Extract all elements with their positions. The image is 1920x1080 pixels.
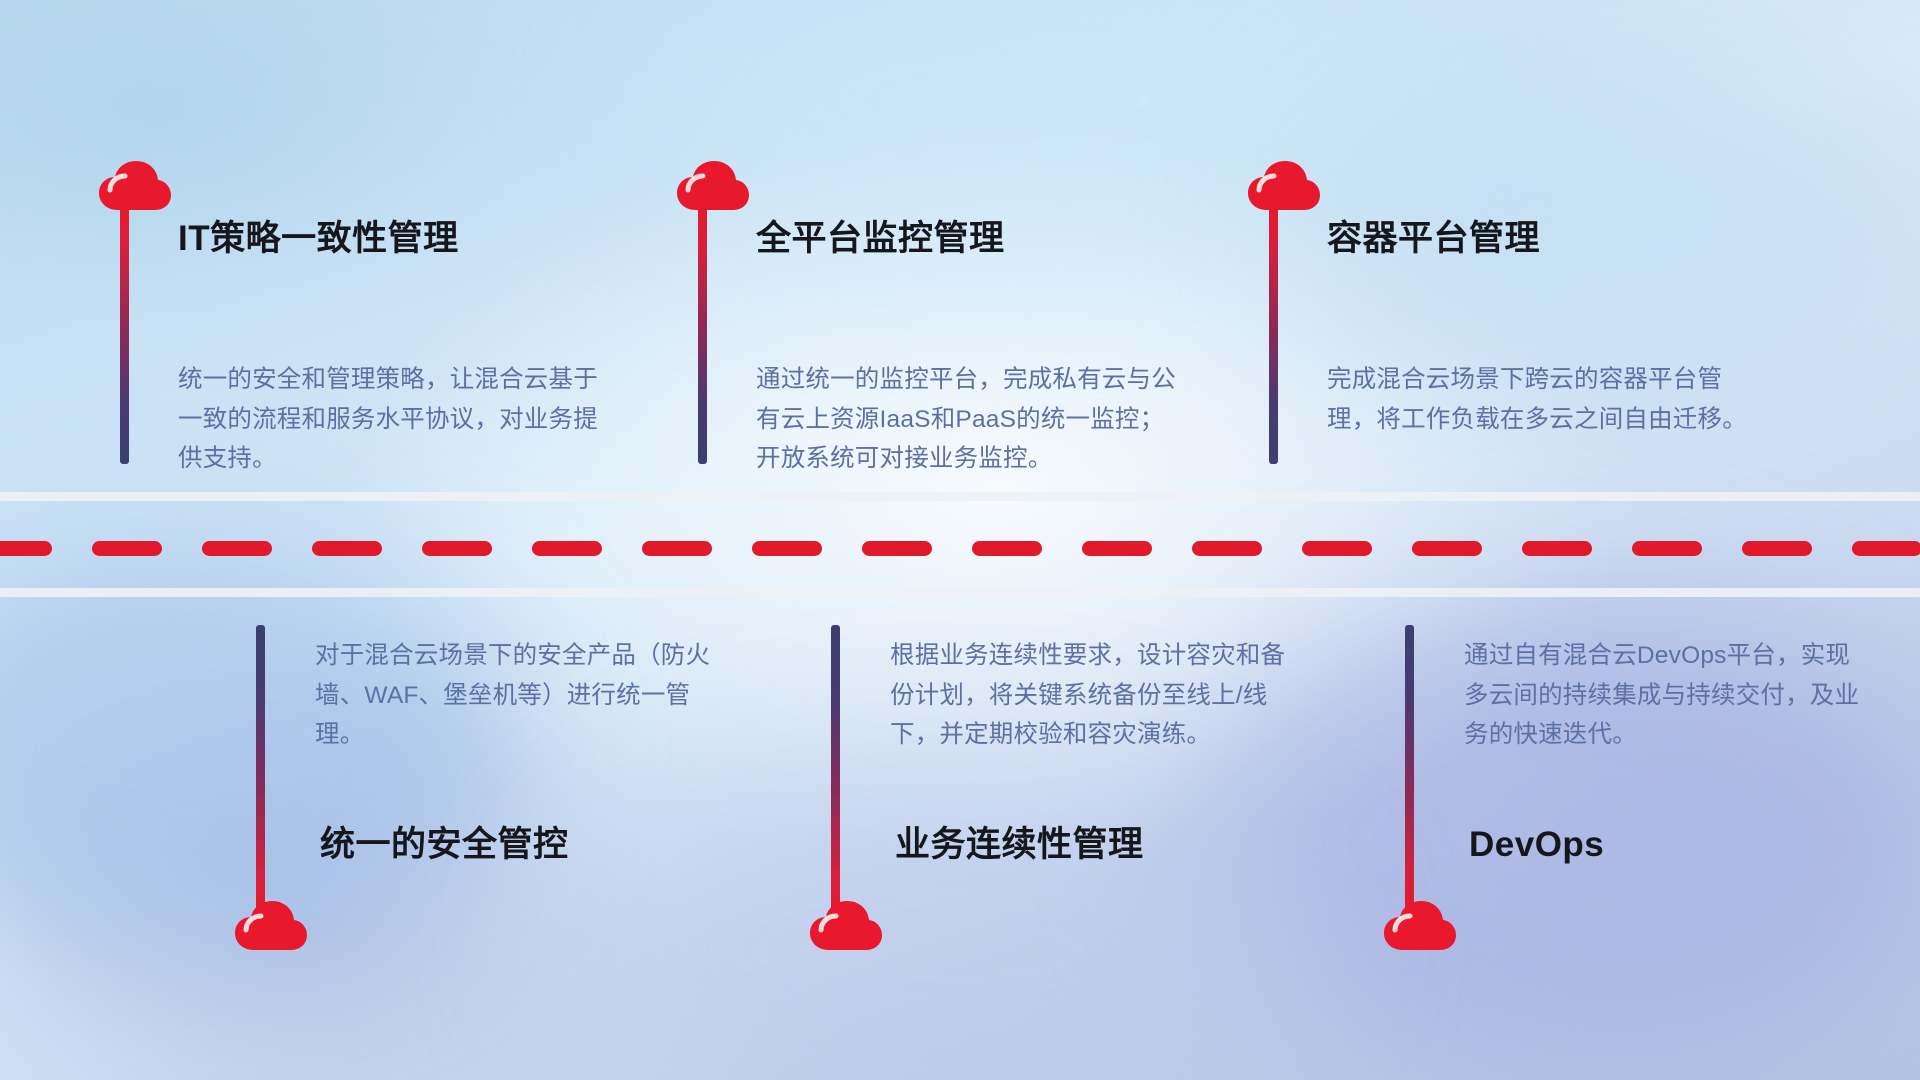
divider-dash [0, 541, 52, 556]
divider-dash [1302, 541, 1372, 556]
bottom-item-body: 根据业务连续性要求，设计容灾和备份计划，将关键系统备份至线上/线下，并定期校验和… [890, 636, 1300, 755]
infographic-canvas: IT策略一致性管理 统一的安全和管理策略，让混合云基于一致的流程和服务水平协议，… [0, 0, 1920, 1080]
cloud-icon [1247, 160, 1321, 212]
divider-dash [422, 541, 492, 556]
timeline-stem [1405, 625, 1414, 917]
bottom-item-title: 统一的安全管控 [320, 826, 569, 865]
top-item-title: 容器平台管理 [1327, 220, 1540, 259]
bottom-item-title: 业务连续性管理 [895, 826, 1144, 865]
divider-dash [862, 541, 932, 556]
top-item-title: IT策略一致性管理 [178, 220, 459, 259]
divider-dash [1522, 541, 1592, 556]
timeline-stem [256, 625, 265, 917]
timeline-stem [698, 206, 707, 464]
divider-dash [1192, 541, 1262, 556]
divider-dash [1412, 541, 1482, 556]
divider-dash [642, 541, 712, 556]
bottom-item-body: 通过自有混合云DevOps平台，实现多云间的持续集成与持续交付，及业务的快速迭代… [1464, 636, 1874, 755]
cloud-icon [809, 900, 883, 952]
cloud-icon [676, 160, 750, 212]
timeline-stem [1269, 206, 1278, 464]
timeline-stem [120, 206, 129, 464]
background-blob [560, 760, 1320, 1080]
bottom-item-title: DevOps [1469, 826, 1604, 865]
cloud-icon [98, 160, 172, 212]
divider-rule-top [0, 492, 1920, 501]
top-item-body: 完成混合云场景下跨云的容器平台管理，将工作负载在多云之间自由迁移。 [1327, 360, 1747, 439]
divider-dash [1742, 541, 1812, 556]
timeline-stem [831, 625, 840, 917]
top-item-body: 统一的安全和管理策略，让混合云基于一致的流程和服务水平协议，对业务提供支持。 [178, 360, 598, 479]
divider-dash [1082, 541, 1152, 556]
divider-dash [1852, 541, 1920, 556]
divider-dash [92, 541, 162, 556]
cloud-icon [1383, 900, 1457, 952]
divider-rule-bottom [0, 588, 1920, 597]
divider-dash [752, 541, 822, 556]
divider-dash [1632, 541, 1702, 556]
top-item-title: 全平台监控管理 [756, 220, 1005, 259]
divider-dash [202, 541, 272, 556]
cloud-icon [234, 900, 308, 952]
divider-dashed-line [0, 541, 1920, 556]
divider-dash [312, 541, 382, 556]
top-item-body: 通过统一的监控平台，完成私有云与公有云上资源IaaS和PaaS的统一监控；开放系… [756, 360, 1176, 479]
bottom-item-body: 对于混合云场景下的安全产品（防火墙、WAF、堡垒机等）进行统一管理。 [315, 636, 725, 755]
divider-dash [972, 541, 1042, 556]
divider-dash [532, 541, 602, 556]
